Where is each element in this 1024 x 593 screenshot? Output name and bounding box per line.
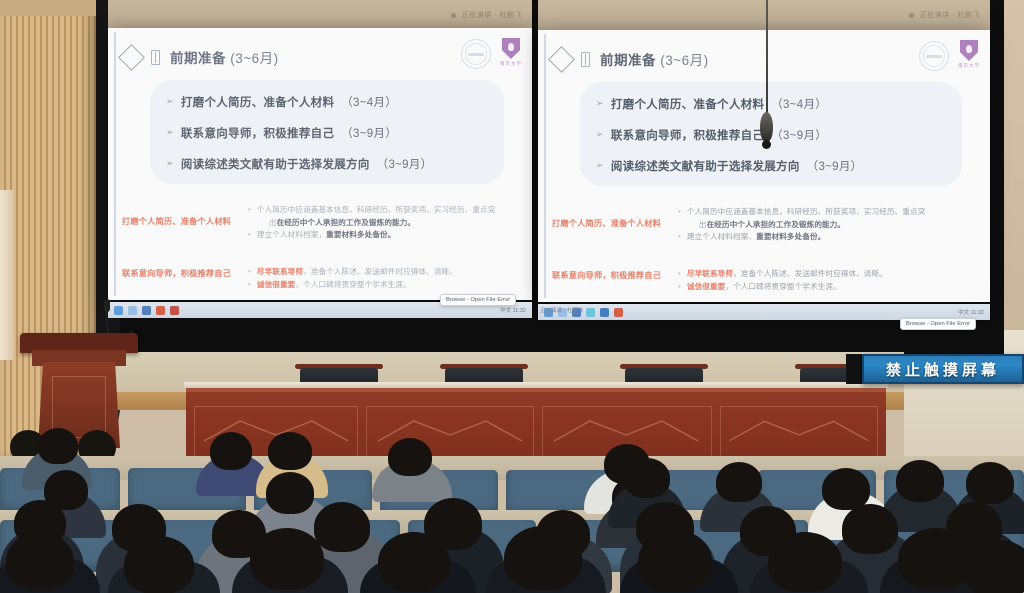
attendee-head bbox=[124, 536, 194, 593]
warning-sign-no-touch: 禁止触摸屏幕 bbox=[862, 354, 1024, 384]
right-bullet-list: ➢ 打磨个人简历、准备个人材料 （3~4月） ➢ 联系意向导师，积极推荐自己 （… bbox=[596, 88, 972, 181]
left-taskbar-clock: 中文 11:32 bbox=[500, 306, 526, 314]
left-bullet-list: ➢ 打磨个人简历、准备个人材料 （3~4月） ➢ 联系意向导师，积极推荐自己 （… bbox=[166, 86, 514, 179]
detail-line: • 个人简历中应涵盖基本信息、科研经历、所获奖项、实习经历、重点突 出在经历中个… bbox=[678, 206, 978, 231]
hanging-microphone-tip bbox=[762, 140, 771, 149]
attendee-head bbox=[314, 502, 370, 552]
right-slide-logos: 南京大学 bbox=[919, 40, 980, 72]
university-seal-logo bbox=[919, 41, 949, 71]
book-icon bbox=[581, 52, 590, 67]
right-taskbar-clock: 中文 11:32 bbox=[958, 308, 984, 316]
hanging-microphone bbox=[760, 112, 773, 142]
left-chrome-status: 正在演讲 · 杜鹏飞 bbox=[462, 10, 522, 20]
attendee-head bbox=[896, 460, 944, 502]
book-icon bbox=[151, 50, 160, 65]
left-projected-slide: 前期准备 (3~6月) 南京大学 ➢ 打磨个人简历、准备个人材料 （3~4月） bbox=[108, 28, 532, 300]
university-crest-logo: 南京大学 bbox=[500, 38, 522, 70]
audience-area bbox=[0, 400, 1024, 593]
right-detail-block-1: 打磨个人简历、准备个人材料 • 个人简历中应涵盖基本信息、科研经历、所获奖项、实… bbox=[552, 206, 978, 244]
attendee-head bbox=[504, 526, 582, 590]
start-icon[interactable] bbox=[114, 306, 123, 315]
attendee-head bbox=[38, 428, 78, 464]
record-dot-icon bbox=[909, 13, 914, 18]
attendee-head bbox=[716, 462, 762, 502]
right-detail-heading-1: 打磨个人简历、准备个人材料 bbox=[552, 206, 670, 244]
university-crest-logo: 南京大学 bbox=[958, 40, 980, 72]
right-detail-heading-2: 联系意向导师，积极推荐自己 bbox=[552, 268, 670, 293]
detail-line: • 建立个人材料档案、重要材料多处备份。 bbox=[678, 231, 978, 244]
hanging-microphone-wire bbox=[766, 0, 768, 120]
attendee-head bbox=[266, 472, 314, 514]
list-item: ➢ 联系意向导师，积极推荐自己 （3~9月） bbox=[166, 117, 514, 148]
detail-line: • 诚信很重要，个人口碑将贯穿整个学术生涯。 bbox=[248, 279, 520, 292]
detail-line: • 建立个人材料档案，重要材料多处备份。 bbox=[248, 229, 520, 242]
slides-icon[interactable] bbox=[170, 306, 179, 315]
left-detail-block-2: 联系意向导师，积极推荐自己 • 尽早联系导师，准备个人陈述、发送邮件时应得体、清… bbox=[122, 266, 520, 291]
attendee-head bbox=[638, 530, 712, 592]
attendee-head bbox=[268, 432, 312, 470]
right-wall-upper bbox=[1004, 0, 1024, 340]
detail-line: • 尽早联系导师，准备个人陈述、发送邮件时应得体、清晰。 bbox=[678, 268, 978, 281]
lecture-hall-scene: 正在演讲 · 杜鹏飞 正在演讲 · 杜鹏飞 前期准备 (3~6月) 南京大学 bbox=[0, 0, 1024, 593]
browser-icon[interactable] bbox=[142, 306, 151, 315]
detail-line: • 诚信很重要，个人口碑将贯穿整个学术生涯。 bbox=[678, 281, 978, 294]
list-item: ➢ 阅读综述类文献有助于选择发展方向 （3~9月） bbox=[596, 150, 972, 181]
detail-line: • 个人简历中应涵盖基本信息、科研经历、所获奖项、实习经历、重点突 出在经历中个… bbox=[248, 204, 520, 229]
left-presentation-chrome: 正在演讲 · 杜鹏飞 bbox=[108, 0, 532, 30]
right-slide-title: 前期准备 (3~6月) bbox=[600, 49, 709, 69]
attendee-head bbox=[624, 458, 670, 498]
list-item: ➢ 联系意向导师，积极推荐自己 （3~9月） bbox=[596, 119, 972, 150]
record-dot-icon bbox=[451, 13, 456, 18]
left-wall-top-trim bbox=[0, 0, 96, 16]
right-presentation-chrome: 正在演讲 · 杜鹏飞 bbox=[538, 0, 990, 30]
chat-icon[interactable] bbox=[586, 308, 595, 317]
list-item: ➢ 打磨个人简历、准备个人材料 （3~4月） bbox=[166, 86, 514, 117]
pdf-icon[interactable] bbox=[156, 306, 165, 315]
folder-icon[interactable] bbox=[128, 306, 137, 315]
left-detail-block-1: 打磨个人简历、准备个人材料 • 个人简历中应涵盖基本信息、科研经历、所获奖项、实… bbox=[122, 204, 520, 242]
diamond-outline-icon bbox=[548, 46, 575, 73]
attendee-head bbox=[898, 528, 974, 590]
left-slide-logos: 南京大学 bbox=[461, 38, 522, 70]
attendee-head bbox=[6, 532, 74, 590]
attendee-head bbox=[842, 504, 898, 554]
pdf-icon[interactable] bbox=[614, 308, 623, 317]
list-item: ➢ 打磨个人简历、准备个人材料 （3~4月） bbox=[596, 88, 972, 119]
right-projected-slide: 前期准备 (3~6月) 南京大学 ➢ 打磨个人简历、准备个人材料 （3~4月） bbox=[538, 30, 990, 302]
right-taskbar-tooltip: Browse - Open File Error bbox=[900, 318, 976, 330]
attendee-head bbox=[964, 540, 1024, 593]
attendee-head bbox=[388, 438, 432, 476]
university-seal-logo bbox=[461, 39, 491, 69]
attendee-head bbox=[210, 432, 252, 470]
attendee-head bbox=[966, 462, 1014, 504]
attendee-head bbox=[250, 528, 324, 590]
left-slide-title: 前期准备 (3~6月) bbox=[170, 47, 279, 67]
attendee-head bbox=[768, 532, 842, 592]
right-detail-block-2: 联系意向导师，积极推荐自己 • 尽早联系导师，准备个人陈述、发送邮件时应得体、清… bbox=[552, 268, 978, 293]
list-item: ➢ 阅读综述类文献有助于选择发展方向 （3~9月） bbox=[166, 148, 514, 179]
right-taskbar-status: 正在演讲 · 杜鹏飞 bbox=[540, 306, 583, 314]
warning-sign-text: 禁止触摸屏幕 bbox=[886, 359, 1000, 380]
right-chrome-status: 正在演讲 · 杜鹏飞 bbox=[920, 10, 980, 20]
detail-line: • 尽早联系导师，准备个人陈述、发送邮件时应得体、清晰。 bbox=[248, 266, 520, 279]
attendee-head bbox=[378, 532, 450, 592]
left-detail-heading-1: 打磨个人简历、准备个人材料 bbox=[122, 204, 240, 242]
left-detail-heading-2: 联系意向导师，积极推荐自己 bbox=[122, 266, 240, 291]
left-taskbar-tooltip: Browse - Open File Error bbox=[440, 294, 516, 306]
diamond-outline-icon bbox=[118, 44, 145, 71]
left-wall-edge-panel bbox=[0, 190, 14, 360]
word-icon[interactable] bbox=[600, 308, 609, 317]
